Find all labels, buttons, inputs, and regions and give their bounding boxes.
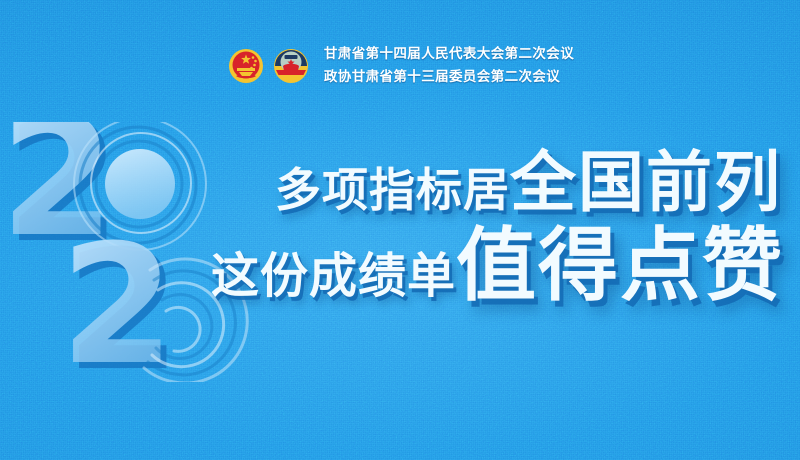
header-line-npc: 甘肃省第十四届人民代表大会第二次会议 bbox=[324, 44, 574, 65]
headline-1-lead: 多项指标居 bbox=[275, 167, 510, 216]
national-emblem-china-icon bbox=[226, 46, 266, 86]
banner: 2 2 2 2 bbox=[0, 0, 800, 460]
banner-header: 甘肃省第十四届人民代表大会第二次会议 政协甘肃省第十三届委员会第二次会议 bbox=[0, 44, 800, 88]
emblem-group bbox=[226, 46, 311, 86]
headline-line-1: 多项指标居 全国前列 bbox=[275, 150, 800, 216]
cppcc-emblem-icon bbox=[271, 46, 311, 86]
headline-line-2: 这份成绩单 值得点赞 bbox=[211, 226, 800, 306]
headline-block: 多项指标居 全国前列 这份成绩单 值得点赞 bbox=[0, 150, 800, 306]
headline-2-emphasis: 值得点赞 bbox=[456, 226, 784, 306]
header-text-block: 甘肃省第十四届人民代表大会第二次会议 政协甘肃省第十三届委员会第二次会议 bbox=[320, 44, 574, 88]
headline-2-lead: 这份成绩单 bbox=[211, 252, 456, 306]
headline-1-emphasis: 全国前列 bbox=[510, 150, 782, 216]
header-line-cppcc: 政协甘肃省第十三届委员会第二次会议 bbox=[324, 67, 574, 88]
